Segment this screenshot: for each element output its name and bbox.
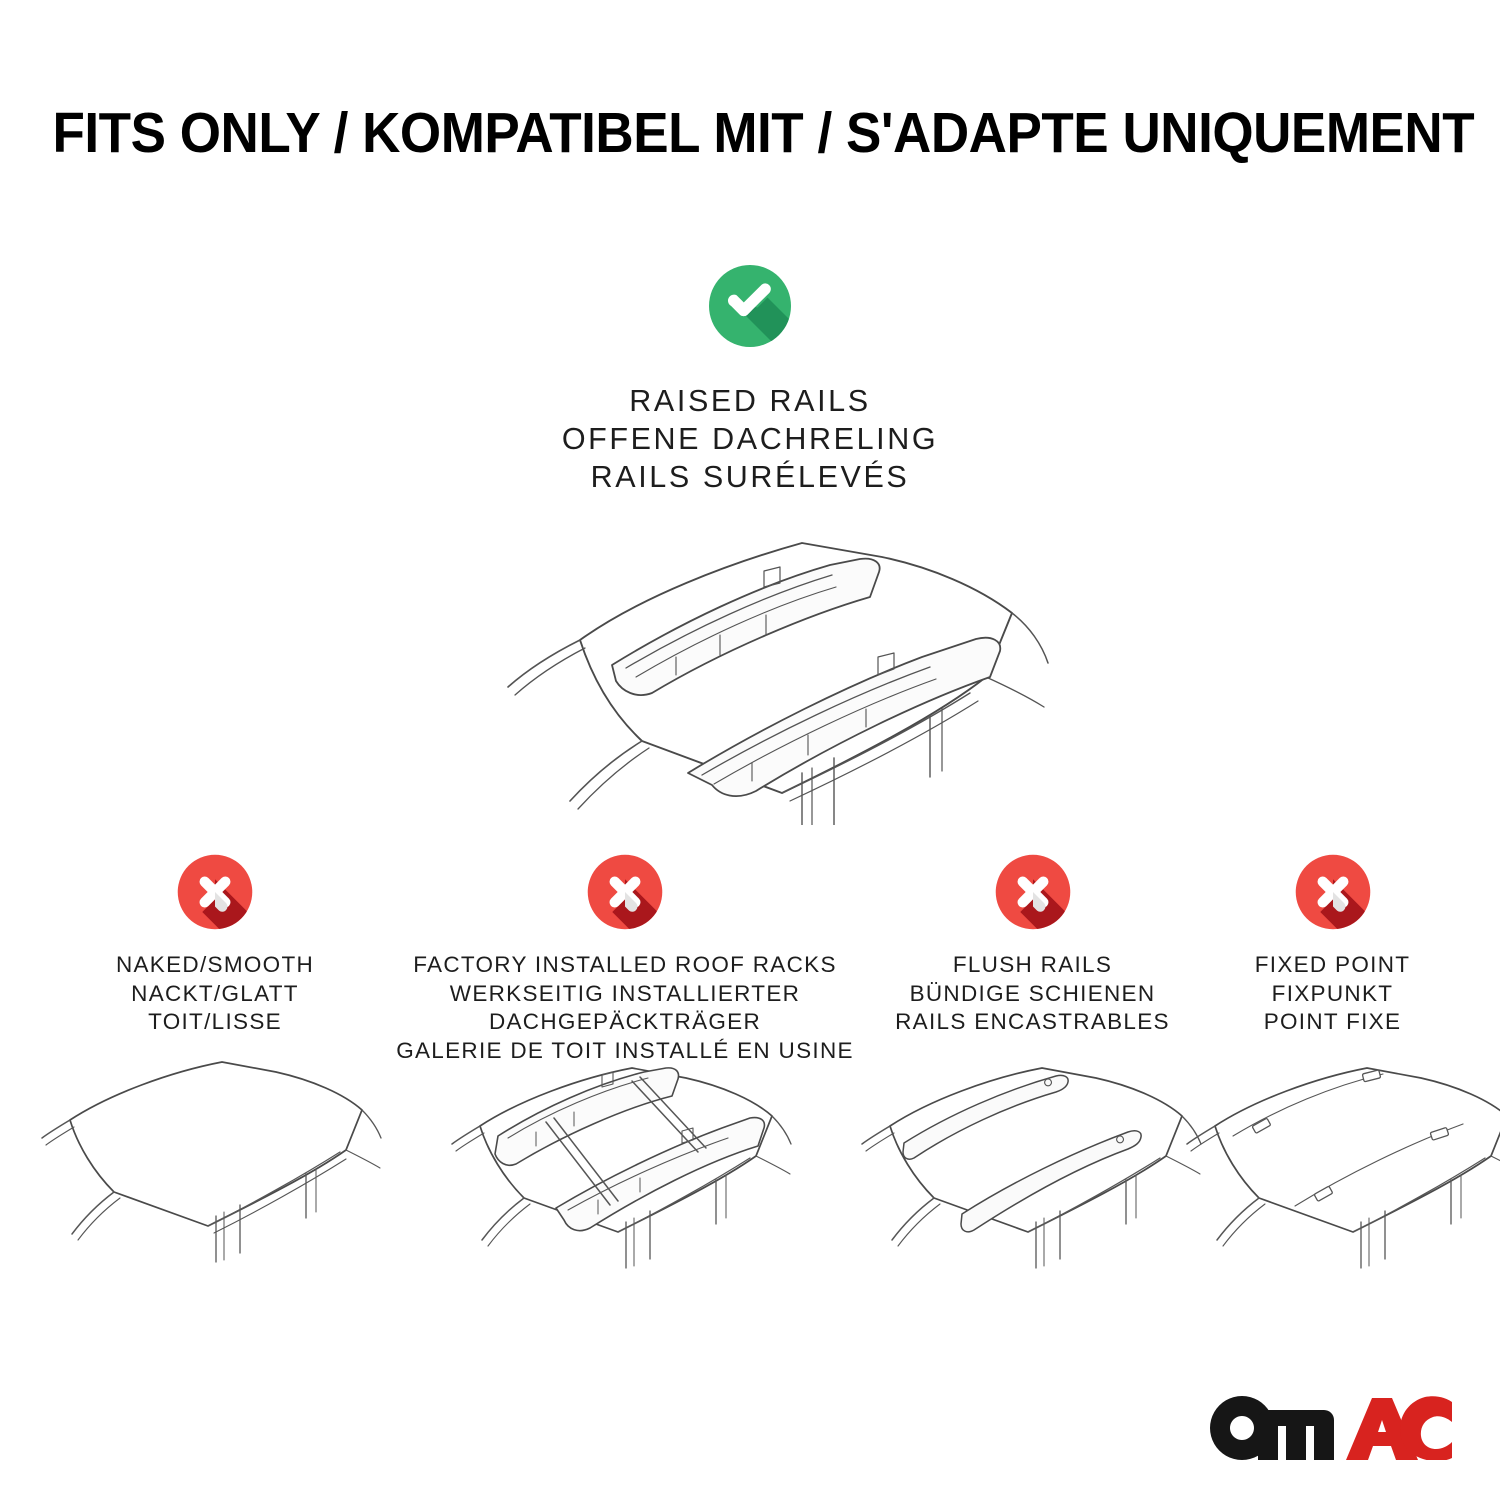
approved-label-de: OFFENE DACHRELING — [0, 420, 1500, 458]
denied-column-factory: FACTORY INSTALLED ROOF RACKS WERKSEITIG … — [395, 852, 855, 1065]
denied-label-line: TOIT/LISSE — [35, 1008, 395, 1037]
denied-label-naked: NAKED/SMOOTH NACKT/GLATT TOIT/LISSE — [35, 951, 395, 1037]
car-roof-raised-rails-drawing — [0, 505, 1500, 825]
denied-label-line: NAKED/SMOOTH — [35, 951, 395, 980]
denied-label-line: FIXED POINT — [1185, 951, 1480, 980]
page-title: FITS ONLY / KOMPATIBEL MIT / S'ADAPTE UN… — [53, 100, 1448, 166]
denied-label-line: WERKSEITIG INSTALLIERTER — [395, 980, 855, 1009]
denied-label-fixed-point: FIXED POINT FIXPUNKT POINT FIXE — [1185, 951, 1480, 1037]
denied-label-line: RAILS ENCASTRABLES — [860, 1008, 1205, 1037]
denied-label-line: FACTORY INSTALLED ROOF RACKS — [395, 951, 855, 980]
x-circle-icon — [1293, 919, 1373, 936]
omac-logo — [1208, 1396, 1452, 1460]
denied-column-naked: NAKED/SMOOTH NACKT/GLATT TOIT/LISSE — [35, 852, 395, 1037]
approved-label-fr: RAILS SURÉLEVÉS — [0, 458, 1500, 496]
approved-section: RAISED RAILS OFFENE DACHRELING RAILS SUR… — [0, 262, 1500, 496]
x-circle-icon — [585, 919, 665, 936]
denied-section: NAKED/SMOOTH NACKT/GLATT TOIT/LISSE — [0, 852, 1500, 1292]
denied-column-fixed-point: FIXED POINT FIXPUNKT POINT FIXE — [1185, 852, 1480, 1037]
check-circle-icon — [0, 262, 1500, 350]
approved-label: RAISED RAILS OFFENE DACHRELING RAILS SUR… — [0, 382, 1500, 496]
logo-letter-m — [1258, 1410, 1334, 1460]
denied-label-line: POINT FIXE — [1185, 1008, 1480, 1037]
approved-label-en: RAISED RAILS — [0, 382, 1500, 420]
car-roof-factory-rack-drawing — [395, 1048, 855, 1278]
car-roof-fixed-point-drawing — [1185, 1048, 1480, 1278]
denied-label-line: FIXPUNKT — [1185, 980, 1480, 1009]
denied-label-flush: FLUSH RAILS BÜNDIGE SCHIENEN RAILS ENCAS… — [860, 951, 1205, 1037]
car-roof-flush-rails-drawing — [860, 1048, 1205, 1278]
denied-label-line: DACHGEPÄCKTRÄGER — [395, 1008, 855, 1037]
car-roof-naked-smooth-drawing — [35, 1048, 395, 1278]
denied-column-flush: FLUSH RAILS BÜNDIGE SCHIENEN RAILS ENCAS… — [860, 852, 1205, 1037]
denied-label-line: BÜNDIGE SCHIENEN — [860, 980, 1205, 1009]
denied-label-line: FLUSH RAILS — [860, 951, 1205, 980]
x-circle-icon — [175, 919, 255, 936]
denied-label-line: NACKT/GLATT — [35, 980, 395, 1009]
x-circle-icon — [993, 919, 1073, 936]
